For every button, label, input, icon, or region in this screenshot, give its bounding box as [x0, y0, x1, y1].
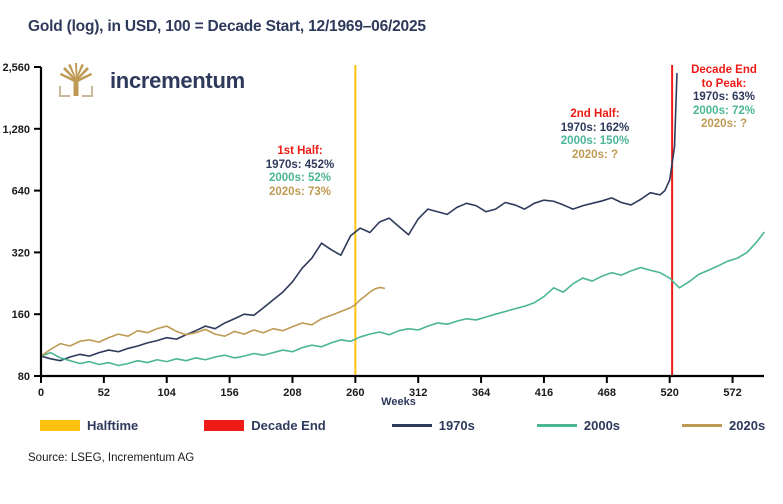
legend-item-halftime[interactable]: Halftime — [40, 418, 138, 433]
annotation-first-half-heading: 1st Half: — [240, 145, 360, 159]
annotation-second-half-1970s: 1970s: 162% — [530, 122, 660, 136]
legend-label-halftime: Halftime — [87, 418, 138, 433]
y-axis-ticks: 801603206401,2802,560 — [2, 62, 41, 383]
svg-text:1,280: 1,280 — [2, 124, 30, 136]
annotation-second-half-2020s: 2020s: ? — [530, 149, 660, 163]
legend-label-2000s: 2000s — [584, 418, 620, 433]
legend-label-1970s: 1970s — [439, 418, 475, 433]
annotation-decade-end-to-peak: Decade End to Peak: 1970s: 63% 2000s: 72… — [672, 64, 776, 132]
legend-swatch-2020s — [682, 424, 722, 427]
legend-item-2020s[interactable]: 2020s — [682, 418, 765, 433]
annotation-second-half-2000s: 2000s: 150% — [530, 135, 660, 149]
legend-swatch-1970s — [392, 424, 432, 427]
x-axis-title-text: Weeks — [381, 396, 416, 408]
annotation-peak-1970s: 1970s: 63% — [672, 91, 776, 105]
annotation-peak-heading-line1: Decade End — [672, 64, 776, 78]
annotation-peak-2020s: 2020s: ? — [672, 118, 776, 132]
x-axis-title: Weeks — [0, 396, 783, 408]
legend-swatch-halftime — [40, 420, 80, 431]
svg-text:80: 80 — [18, 371, 30, 383]
annotation-first-half-1970s: 1970s: 452% — [240, 159, 360, 173]
svg-text:320: 320 — [12, 247, 30, 259]
chart-legend: Halftime Decade End 1970s 2000s 2020s — [40, 418, 770, 433]
annotation-first-half-2020s: 2020s: 73% — [240, 186, 360, 200]
svg-text:2,560: 2,560 — [2, 62, 30, 74]
legend-label-decade-end: Decade End — [251, 418, 325, 433]
source-note: Source: LSEG, Incrementum AG — [28, 452, 194, 464]
legend-item-2000s[interactable]: 2000s — [537, 418, 620, 433]
svg-text:640: 640 — [12, 186, 30, 198]
legend-item-1970s[interactable]: 1970s — [392, 418, 475, 433]
legend-swatch-2000s — [537, 424, 577, 427]
annotation-peak-2000s: 2000s: 72% — [672, 105, 776, 119]
legend-item-decade-end[interactable]: Decade End — [204, 418, 325, 433]
legend-label-2020s: 2020s — [729, 418, 765, 433]
annotation-second-half-heading: 2nd Half: — [530, 108, 660, 122]
svg-text:160: 160 — [12, 309, 30, 321]
annotation-first-half: 1st Half: 1970s: 452% 2000s: 52% 2020s: … — [240, 145, 360, 199]
chart-plot: 801603206401,2802,560 052104156208260312… — [0, 0, 783, 400]
annotation-peak-heading-line2: to Peak: — [672, 78, 776, 92]
chart-page: Gold (log), in USD, 100 = Decade Start, … — [0, 0, 783, 504]
annotation-first-half-2000s: 2000s: 52% — [240, 172, 360, 186]
annotation-second-half: 2nd Half: 1970s: 162% 2000s: 150% 2020s:… — [530, 108, 660, 162]
legend-swatch-decade-end — [204, 420, 244, 431]
